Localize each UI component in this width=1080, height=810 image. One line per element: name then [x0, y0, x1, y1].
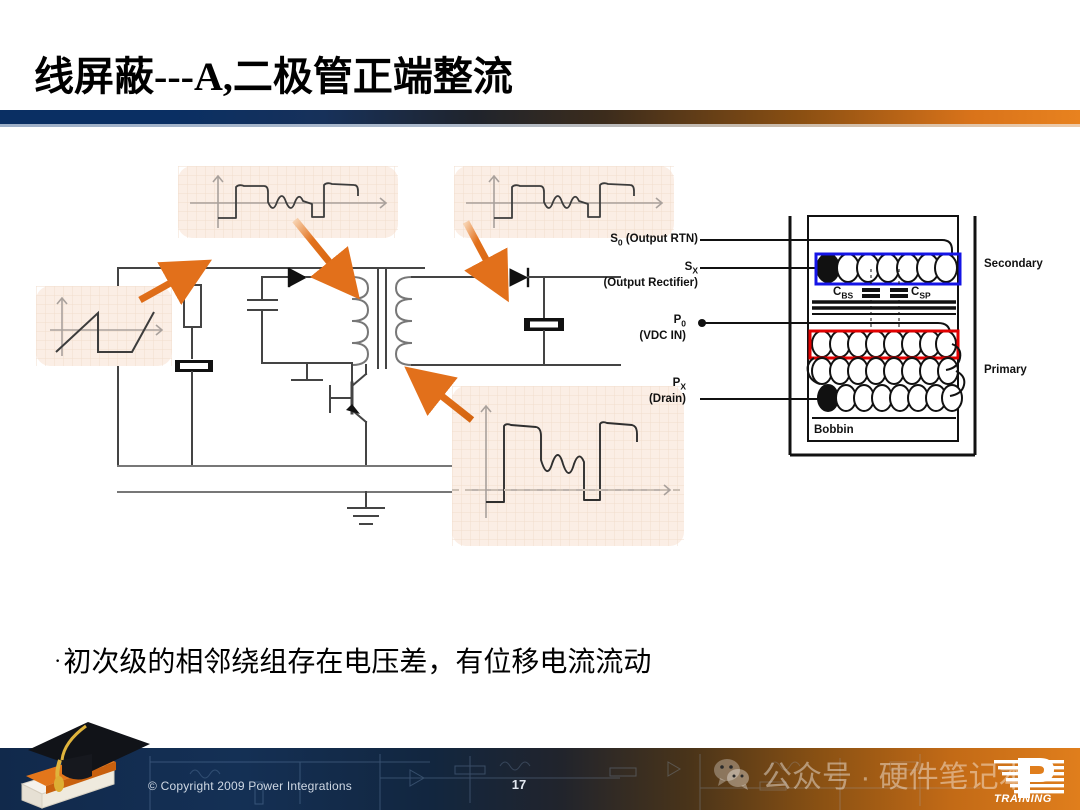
- p0-node: [698, 319, 706, 327]
- drain-voltage-waveform: [452, 386, 684, 546]
- pi-logo-text: TRAINING: [994, 793, 1052, 805]
- graduation-cap-books-icon: [16, 714, 166, 810]
- bullet-point: ·初次级的相邻绕组存在电压差，有位移电流流动: [54, 640, 651, 680]
- primary-winding-row3: [818, 385, 962, 411]
- label-px-sub: X: [680, 381, 686, 391]
- transformer-label-primary: Primary: [984, 364, 1027, 376]
- bobbin-outline: [808, 216, 958, 441]
- secondary-winding-turns: [817, 254, 957, 282]
- bullet-text: 初次级的相邻绕组存在电压差，有位移电流流动: [63, 647, 651, 678]
- transistor-q1: [330, 365, 366, 466]
- secondary-highlight-box: [816, 254, 960, 284]
- square-ringing-waveform-2-callout: [454, 166, 674, 238]
- label-sx-sub: X: [692, 265, 698, 275]
- capacitor-csp-symbol: [890, 268, 908, 344]
- primary-winding-row1: [812, 331, 956, 357]
- s0-lead: [700, 240, 952, 258]
- label-csp-sub: SP: [919, 290, 930, 300]
- ground-primary: [348, 492, 384, 524]
- label-p0-sub: 0: [681, 318, 686, 328]
- capacitor-label-cbs: CBS: [833, 286, 853, 300]
- bullet-marker: ·: [54, 648, 61, 673]
- capacitor-cbs-symbol: [862, 268, 880, 344]
- square-ringing-waveform-1: [178, 166, 398, 238]
- primary-winding-row2: [812, 358, 958, 384]
- shield-plate-secondary: [524, 318, 564, 331]
- ramp-waveform: [36, 286, 172, 366]
- diode-d2: [510, 269, 528, 286]
- primary-highlight-box: [810, 331, 958, 358]
- square-ringing-waveform-2: [454, 166, 674, 238]
- page-title: 线屏蔽---A,二极管正端整流: [34, 44, 513, 102]
- resistor-r1: [184, 285, 201, 327]
- primary-winding: [352, 277, 368, 365]
- ramp-waveform-callout: [36, 286, 172, 366]
- copyright-text: © Copyright 2009 Power Integrations: [148, 779, 352, 793]
- secondary-winding: [396, 277, 412, 365]
- label-s0-main: S: [610, 233, 618, 245]
- transformer-label-px: PX: [586, 377, 686, 391]
- label-s0-paren: (Output RTN): [626, 233, 698, 245]
- transformer-label-p0: P0: [586, 314, 686, 328]
- shield-layers: [812, 302, 956, 314]
- transformer-label-sx: SX: [586, 261, 698, 275]
- transformer-label-s0: S0 (Output RTN): [586, 233, 698, 247]
- transformer-label-px-paren: (Drain): [586, 393, 686, 405]
- transformer-label-p0-paren: (VDC IN): [586, 330, 686, 342]
- transformer-label-secondary: Secondary: [984, 258, 1043, 270]
- square-ringing-waveform-1-callout: [178, 166, 398, 238]
- title-divider-shadow: [0, 124, 1080, 127]
- label-cbs-sub: BS: [841, 290, 853, 300]
- diode-d1: [289, 269, 306, 286]
- label-s0-sub: 0: [618, 237, 623, 247]
- p0-lead: [700, 323, 950, 344]
- title-divider-bar: [0, 110, 1080, 124]
- transformer-label-sx-paren: (Output Rectifier): [586, 277, 698, 289]
- capacitor-label-csp: CSP: [911, 286, 931, 300]
- capacitor-c1: [248, 300, 277, 310]
- shield-plate-left: [175, 360, 213, 372]
- drain-voltage-waveform-callout: [452, 386, 684, 546]
- transformer-label-bobbin: Bobbin: [814, 424, 854, 436]
- transformer-core: [378, 270, 386, 368]
- page-number: 17: [504, 777, 534, 792]
